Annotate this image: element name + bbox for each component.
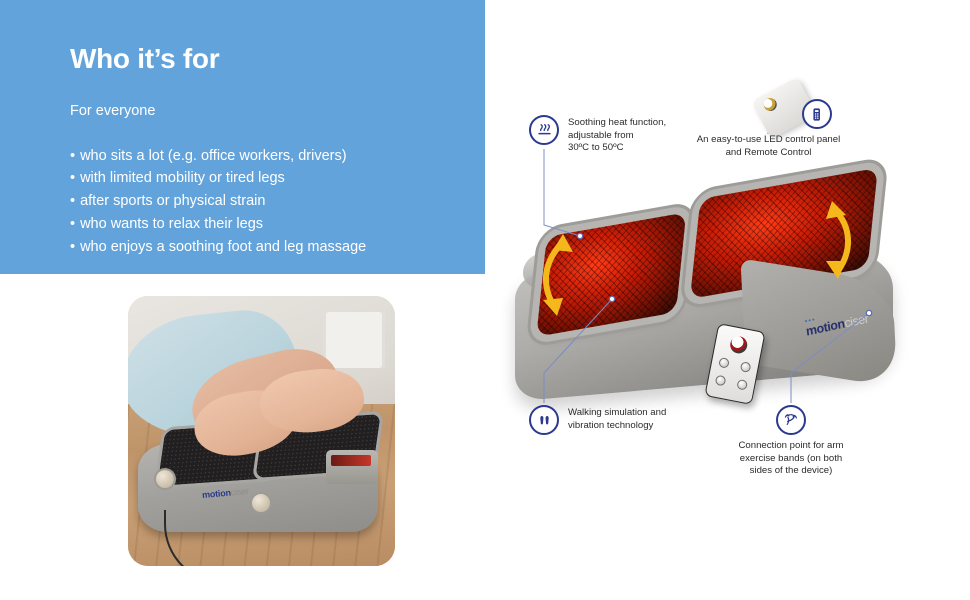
callout-arm-bands-line-3: sides of the device)	[738, 465, 843, 478]
list-item: who wants to relax their legs	[70, 213, 470, 236]
audience-list: who sits a lot (e.g. office workers, dri…	[70, 145, 470, 260]
callout-control-panel-line-2: and Remote Control	[697, 147, 840, 160]
remote-button	[736, 379, 748, 391]
callout-walking-line-1: Walking simulation and	[568, 407, 666, 420]
callout-arm-bands-text: Connection point for arm exercise bands …	[738, 440, 843, 478]
photo-radiator	[323, 312, 385, 368]
callout-control-panel[interactable]: An easy-to-use LED control panel and Rem…	[671, 99, 866, 159]
list-item: who enjoys a soothing foot and leg massa…	[70, 236, 470, 259]
footprints-icon	[529, 405, 559, 435]
callout-heat-text: Soothing heat function, adjustable from …	[568, 115, 666, 155]
callout-control-panel-text: An easy-to-use LED control panel and Rem…	[697, 134, 840, 159]
callout-walking-text: Walking simulation and vibration technol…	[568, 405, 666, 432]
photo-logo-sub: ciser	[230, 486, 249, 498]
lifestyle-photo: motionciser	[128, 296, 395, 566]
list-item: who sits a lot (e.g. office workers, dri…	[70, 145, 470, 168]
lede-text: For everyone	[70, 101, 470, 123]
remote-button	[718, 357, 730, 369]
callout-heat-line-1: Soothing heat function,	[568, 117, 666, 130]
remote-control-icon	[802, 99, 832, 129]
remote-button	[715, 375, 727, 387]
list-item: with limited mobility or tired legs	[70, 167, 470, 190]
callout-arm-bands-line-2: exercise bands (on both	[738, 453, 843, 466]
photo-power-cord	[164, 510, 262, 566]
list-item: after sports or physical strain	[70, 190, 470, 213]
callout-heat[interactable]: Soothing heat function, adjustable from …	[529, 115, 666, 155]
photo-control-panel	[326, 450, 378, 484]
callout-walking-line-2: vibration technology	[568, 420, 666, 433]
callout-arm-bands[interactable]: Connection point for arm exercise bands …	[711, 405, 871, 478]
resistance-band-icon	[776, 405, 806, 435]
photo-band-connector-left	[156, 470, 174, 488]
infographic-canvas: Who it’s for For everyone who sits a lot…	[0, 0, 970, 600]
callout-heat-line-3: 30ºC to 50ºC	[568, 142, 666, 155]
page-title: Who it’s for	[70, 44, 470, 75]
remote-dial	[729, 335, 749, 355]
callout-arm-bands-line-1: Connection point for arm	[738, 440, 843, 453]
anchor-dot-walking	[610, 297, 614, 301]
callout-control-panel-line-1: An easy-to-use LED control panel	[697, 134, 840, 147]
remote-button	[740, 361, 752, 373]
callout-walking[interactable]: Walking simulation and vibration technol…	[529, 405, 666, 435]
heat-waves-icon	[529, 115, 559, 145]
callout-heat-line-2: adjustable from	[568, 130, 666, 143]
who-its-for-copy: Who it’s for For everyone who sits a lot…	[70, 44, 470, 259]
anchor-dot-arm-bands	[867, 311, 871, 315]
anchor-dot-heat	[578, 234, 582, 238]
